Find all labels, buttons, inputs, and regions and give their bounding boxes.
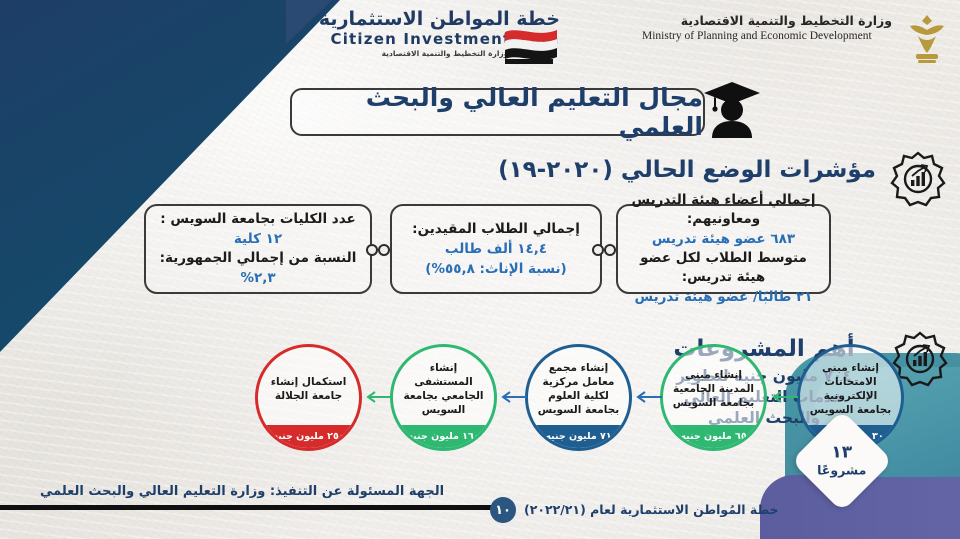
indicator-label-1: عدد الكليات بجامعة السويس :	[160, 210, 355, 229]
project-name: إنشاء المستشفى الجامعي بجامعة السويس	[393, 347, 494, 425]
connector-dot	[366, 244, 378, 256]
badge-count: ١٣	[817, 443, 866, 463]
responsible-entity-text: الجهة المسئولة عن التنفيذ: وزارة التعليم…	[40, 484, 444, 499]
ministry-arabic-text: وزارة التخطيط والتنمية الاقتصادية	[642, 12, 892, 29]
infographic-canvas: خطة المواطن الاستثمارية Citizen Investme…	[0, 0, 960, 539]
footer-rule	[0, 505, 505, 510]
badge-unit: مشروعًا	[817, 463, 866, 479]
flow-arrow-icon	[362, 390, 392, 404]
project-name: إنشاء مبنى المدينة الجامعية بجامعة السوي…	[663, 347, 764, 425]
connector-dot	[604, 244, 616, 256]
page-number-badge: ١٠	[490, 497, 516, 523]
connector-dot	[592, 244, 604, 256]
project-name: إنشاء مبنى الامتحانات الإلكترونية بجامعة…	[800, 347, 901, 425]
page-title: مجال التعليم العالي والبحث العلمي	[290, 88, 705, 136]
indicator-connector	[370, 244, 390, 256]
indicator-box-faculties: عدد الكليات بجامعة السويس : ١٢ كلية النس…	[144, 204, 372, 294]
egypt-eagle-emblem-icon	[904, 12, 950, 68]
project-name: إنشاء مجمع معامل مركزية لكلية العلوم بجا…	[528, 347, 629, 425]
project-name: استكمال إنشاء جامعة الجلالة	[258, 347, 359, 425]
flow-arrow-icon	[768, 390, 798, 404]
indicator-value-2: ٢١ طالبًا/ عضو هيئة تدريس	[635, 287, 813, 307]
indicator-label-1: إجمالي الطلاب المقيدين:	[412, 220, 580, 239]
flow-arrow-icon	[497, 390, 527, 404]
badge-inner: ١٣ مشروعًا	[817, 443, 866, 479]
ministry-english-text: Ministry of Planning and Economic Develo…	[642, 29, 892, 43]
flow-arrow-icon	[632, 390, 662, 404]
project-amount: ٧١ مليون جنيه	[528, 425, 629, 448]
project-amount: ١٦٠ مليون جنيه	[393, 425, 494, 448]
gear-chart-icon	[888, 150, 948, 208]
project-amount: ٦٥ مليون جنيه	[663, 425, 764, 448]
project-amount: ٢٥٠ مليون جنيه	[258, 425, 359, 448]
project-circle-university-hospital: إنشاء المستشفى الجامعي بجامعة السويس ١٦٠…	[390, 344, 497, 451]
project-circle-central-labs: إنشاء مجمع معامل مركزية لكلية العلوم بجا…	[525, 344, 632, 451]
navy-corner-wedge	[0, 0, 340, 352]
connector-dot	[378, 244, 390, 256]
indicator-box-students: إجمالي الطلاب المقيدين: ١٤,٤ ألف طالب (ن…	[390, 204, 602, 294]
project-circle-campus-building: إنشاء مبنى المدينة الجامعية بجامعة السوي…	[660, 344, 767, 451]
graduate-cap-icon	[700, 76, 764, 138]
page-title-text: مجال التعليم العالي والبحث العلمي	[292, 83, 703, 141]
indicator-connector	[600, 244, 616, 256]
project-circle-galala-university: استكمال إنشاء جامعة الجلالة ٢٥٠ مليون جن…	[255, 344, 362, 451]
egypt-flag-icon	[503, 26, 559, 66]
indicator-value-1: ١٤,٤ ألف طالب	[445, 239, 547, 259]
indicators-heading: مؤشرات الوضع الحالي (٢٠٢٠-١٩)	[498, 157, 876, 183]
indicator-label-1: إجمالي أعضاء هيئة التدريس ومعاونيهم:	[626, 191, 821, 229]
ministry-block: وزارة التخطيط والتنمية الاقتصادية Minist…	[642, 12, 892, 43]
indicator-label-2: متوسط الطلاب لكل عضو هيئة تدريس:	[626, 249, 821, 287]
indicator-box-faculty-staff: إجمالي أعضاء هيئة التدريس ومعاونيهم: ٦٨٣…	[616, 204, 831, 294]
indicator-label-2: (نسبة الإناث: ٥٥,٨%)	[425, 259, 566, 279]
indicator-value-1: ١٢ كلية	[234, 229, 282, 249]
indicator-value-1: ٦٨٣ عضو هيئة تدريس	[652, 229, 795, 249]
indicator-label-2: النسبة من إجمالي الجمهورية:	[160, 249, 357, 268]
indicator-value-2: ٢,٣%	[240, 268, 275, 288]
plan-caption-text: خطة المُواطن الاستثمارية لعام (٢٠٢٢/٢١)	[524, 502, 779, 517]
